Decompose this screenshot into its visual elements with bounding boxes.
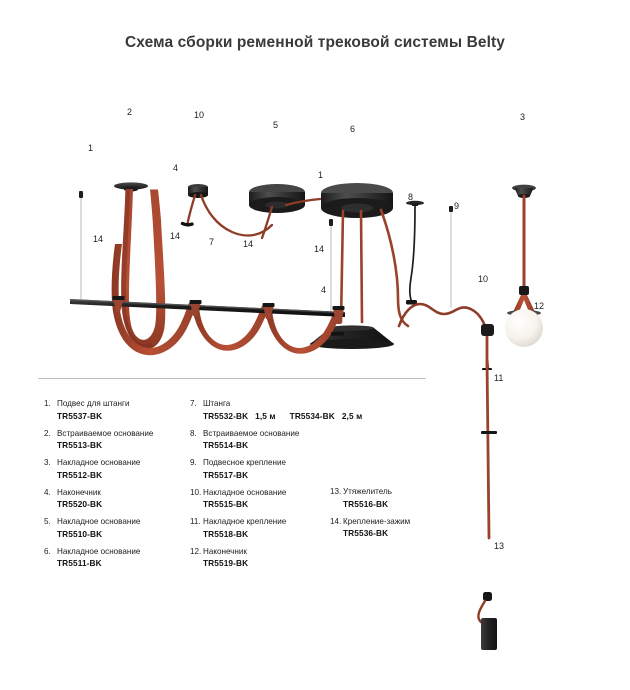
callout-8-c8: 8 [408, 192, 413, 202]
callout-14-c14c: 14 [243, 239, 253, 249]
legend-item-title: 4.Наконечник [44, 487, 194, 499]
legend-item-name: Подвесное крепление [203, 457, 390, 469]
belt-strap-item2 [121, 189, 165, 349]
legend-item-name: Встраиваемое основание [203, 428, 390, 440]
callout-1-c1b: 1 [318, 170, 323, 180]
legend-item-name: Накладное основание [57, 546, 194, 558]
legend-item-number: 8. [190, 428, 203, 440]
legend-item: 5.Накладное основаниеTR5510-BK [44, 516, 194, 540]
legend-item-title: 13.Утяжелитель [330, 486, 510, 498]
article-code: TR5514-BK [203, 440, 248, 450]
item-12-globe-pendant [505, 286, 543, 347]
callout-5-c5: 5 [273, 120, 278, 130]
legend-item-number: 6. [44, 546, 57, 558]
callout-9-c9: 9 [454, 201, 459, 211]
legend-item-code: TR5517-BK [190, 469, 390, 482]
legend-item: 6.Накладное основаниеTR5511-BK [44, 546, 194, 570]
item-8-recessed-base [406, 201, 424, 305]
parts-legend: 1.Подвес для штангиTR5537-BK2.Встраиваем… [38, 398, 598, 598]
article-length: 1,5 м [255, 411, 275, 421]
callout-11-c11: 11 [494, 373, 503, 383]
legend-item-name: Наконечник [57, 487, 194, 499]
item-3-surface-base [512, 185, 536, 288]
callout-2-c2: 2 [127, 107, 132, 117]
legend-item-code: TR5510-BK [44, 528, 194, 541]
callout-3-c3: 3 [520, 112, 525, 122]
article-code: TR5511-BK [57, 558, 102, 568]
legend-item-code: TR5520-BK [44, 498, 194, 511]
legend-item: 1.Подвес для штангиTR5537-BK [44, 398, 194, 422]
legend-item: 8.Встраиваемое основаниеTR5514-BK [190, 428, 390, 452]
item-5-surface-base [249, 184, 305, 213]
legend-item-name: Крепление-зажим [343, 516, 510, 528]
legend-item-title: 3.Накладное основание [44, 457, 194, 469]
legend-item-title: 6.Накладное основание [44, 546, 194, 558]
assembly-diagram: 12104561893141471414410121113 [0, 60, 630, 370]
article-code: TR5518-BK [203, 529, 248, 539]
item-4-end-cap-left [183, 224, 193, 225]
article-code-alt: TR5534-BK [290, 411, 335, 421]
callout-14-c14a: 14 [93, 234, 103, 244]
article-code: TR5519-BK [203, 558, 248, 568]
legend-item-name: Накладное основание [57, 516, 194, 528]
legend-item-title: 9.Подвесное крепление [190, 457, 390, 469]
legend-item: 9.Подвесное креплениеTR5517-BK [190, 457, 390, 481]
item-4-end-cap-right [331, 332, 344, 336]
legend-item-name: Подвес для штанги [57, 398, 194, 410]
article-code: TR5537-BK [57, 411, 102, 421]
callout-10-c10b: 10 [478, 274, 488, 284]
callout-6-c6: 6 [350, 124, 355, 134]
legend-item-code: TR5511-BK [44, 557, 194, 570]
callout-7-c7: 7 [209, 237, 214, 247]
legend-item-number: 1. [44, 398, 57, 410]
legend-item-name: Наконечник [203, 546, 390, 558]
legend-item-number: 2. [44, 428, 57, 440]
legend-item: 4.НаконечникTR5520-BK [44, 487, 194, 511]
callout-12-c12: 12 [534, 301, 544, 311]
legend-item-name: Штанга [203, 398, 390, 410]
diagram-svg [0, 60, 630, 370]
item-10-surface-base-left [188, 184, 208, 198]
legend-item-number: 5. [44, 516, 57, 528]
legend-item: 13.УтяжелительTR5516-BK [330, 486, 510, 510]
cord-wave-right [399, 304, 487, 332]
legend-item-code: TR5519-BK [190, 557, 390, 570]
item-7-track-bar [70, 299, 345, 317]
article-code: TR5513-BK [57, 440, 102, 450]
callout-4-c4b: 4 [321, 285, 326, 295]
article-code: TR5532-BK [203, 411, 248, 421]
cords-item6 [341, 210, 408, 326]
legend-item-number: 13. [330, 486, 343, 498]
legend-item: 14.Крепление-зажимTR5536-BK [330, 516, 510, 540]
page-title: Схема сборки ременной трековой системы B… [0, 34, 630, 52]
legend-item-title: 7.Штанга [190, 398, 390, 410]
callout-14-c14b: 14 [170, 231, 180, 241]
legend-item-number: 9. [190, 457, 203, 469]
legend-item: 12.НаконечникTR5519-BK [190, 546, 390, 570]
article-code: TR5515-BK [203, 499, 248, 509]
item-1-rod-suspension-left [79, 191, 83, 302]
article-length-alt: 2,5 м [342, 411, 362, 421]
legend-item-name: Встраиваемое основание [57, 428, 194, 440]
legend-item-name: Утяжелитель [343, 486, 510, 498]
article-code: TR5517-BK [203, 470, 248, 480]
callout-10-c10a: 10 [194, 110, 204, 120]
legend-item-code: TR5537-BK [44, 410, 194, 423]
callout-14-c14d: 14 [314, 244, 324, 254]
legend-item-number: 3. [44, 457, 57, 469]
article-code: TR5520-BK [57, 499, 102, 509]
legend-item-code: TR5514-BK [190, 439, 390, 452]
legend-item-title: 5.Накладное основание [44, 516, 194, 528]
item-1-rod-suspension-center [329, 219, 333, 314]
legend-item-number: 7. [190, 398, 203, 410]
article-code: TR5512-BK [57, 470, 102, 480]
legend-item-number: 14. [330, 516, 343, 528]
legend-item: 2.Встраиваемое основаниеTR5513-BK [44, 428, 194, 452]
callout-1-c1a: 1 [88, 143, 93, 153]
article-code: TR5510-BK [57, 529, 102, 539]
legend-item-number: 11. [190, 516, 203, 528]
legend-item-code: TR5536-BK [330, 527, 510, 540]
legend-item-title: 2.Встраиваемое основание [44, 428, 194, 440]
article-code: TR5536-BK [343, 528, 388, 538]
belt-loops [112, 244, 343, 355]
section-divider [38, 378, 426, 379]
legend-item-code: TR5516-BK [330, 498, 510, 511]
callout-4-c4a: 4 [173, 163, 178, 173]
item-9-pendant-mount [449, 206, 453, 308]
legend-item: 3.Накладное основаниеTR5512-BK [44, 457, 194, 481]
legend-item-number: 10. [190, 487, 203, 499]
legend-item-title: 14.Крепление-зажим [330, 516, 510, 528]
legend-item: 7.ШтангаTR5532-BK1,5 мTR5534-BK2,5 м [190, 398, 390, 422]
legend-item-number: 12. [190, 546, 203, 558]
legend-item-title: 12.Наконечник [190, 546, 390, 558]
legend-item-title: 1.Подвес для штанги [44, 398, 194, 410]
legend-item-number: 4. [44, 487, 57, 499]
legend-item-code: TR5513-BK [44, 439, 194, 452]
legend-item-name: Накладное основание [57, 457, 194, 469]
legend-item-title: 8.Встраиваемое основание [190, 428, 390, 440]
article-code: TR5516-BK [343, 499, 388, 509]
item-13-weight [478, 592, 497, 650]
legend-column-1: 1.Подвес для штангиTR5537-BK2.Встраиваем… [44, 398, 194, 575]
legend-column-3: 13.УтяжелительTR5516-BK14.Крепление-зажи… [330, 486, 510, 545]
legend-item-code: TR5532-BK1,5 мTR5534-BK2,5 м [190, 410, 390, 423]
legend-item-code: TR5512-BK [44, 469, 194, 482]
